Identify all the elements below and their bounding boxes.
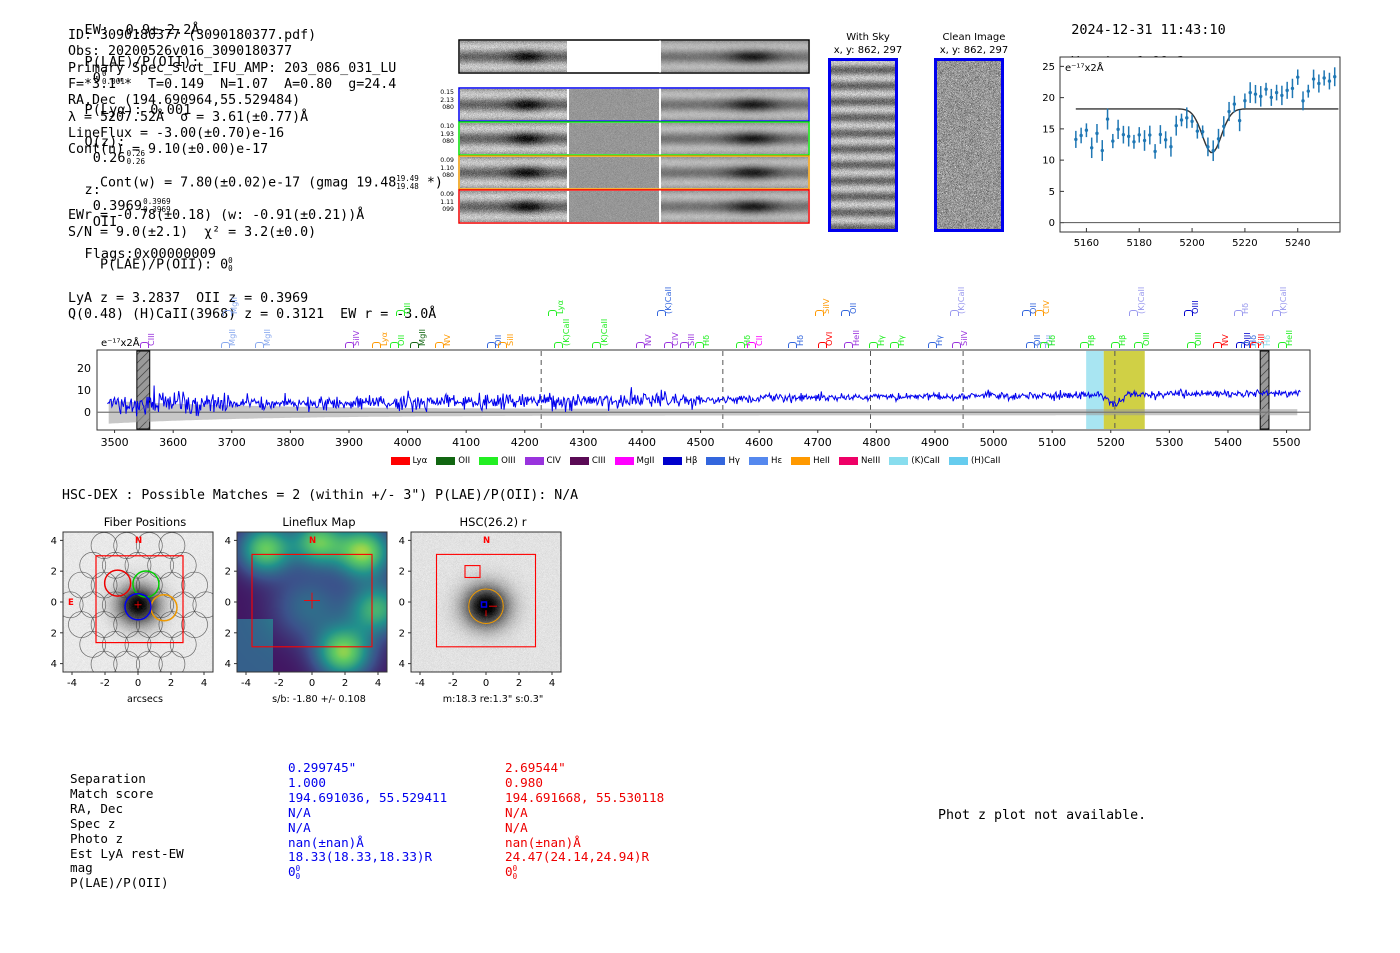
line-marker-49-bracket [1272, 310, 1281, 316]
line-marker-19-bracket [695, 342, 704, 348]
svg-text:-4: -4 [241, 678, 251, 689]
line-marker-30-bracket [950, 310, 959, 316]
line-marker-44-bracket [1234, 310, 1243, 316]
match-row-4-blue-value: N/A [288, 821, 311, 836]
svg-text:3800: 3800 [276, 436, 304, 449]
match-row-2-label: RA, Dec [70, 802, 123, 817]
legend-item-oii: OII [436, 456, 470, 466]
svg-text:2: 2 [399, 628, 405, 639]
spectrum-line-labels: CIIIMgIIMgIIMgIISiIVLyαOIIOIIMgIINVOIISi… [0, 262, 1400, 357]
line-marker-41-bracket [1184, 310, 1193, 316]
svg-text:5240: 5240 [1285, 238, 1310, 249]
line-marker-34-bracket [1035, 310, 1044, 316]
match-row-5-label: Est LyA rest-EW [70, 847, 184, 862]
legend-item-hγ: Hγ [706, 456, 740, 466]
svg-text:4: 4 [225, 536, 231, 547]
match-row-6-blue-text: 18.33(18.33,18.33)R [288, 849, 432, 864]
svg-text:2: 2 [399, 567, 405, 578]
svg-text:2: 2 [225, 567, 231, 578]
match-row-7-blue-value: 000 [288, 865, 300, 880]
svg-text:4400: 4400 [628, 436, 656, 449]
line-marker-3-bracket [255, 342, 264, 348]
cutout-1-title: Clean Image [924, 32, 1024, 43]
legend-swatch-3 [525, 457, 544, 465]
line-marker-28-bracket [890, 342, 899, 348]
svg-text:4: 4 [225, 659, 231, 670]
info-primary-slot: Primary Spec_Slot_IFU_AMP: 203_086_031_L… [68, 61, 443, 77]
line-marker-22-bracket [788, 342, 797, 348]
info-ewr: EWr = -0.78(±0.18) (w: -0.91(±0.21))Å [68, 208, 443, 224]
legend-label-0: Lyα [413, 456, 428, 466]
svg-text:5160: 5160 [1074, 238, 1099, 249]
svg-text:e⁻¹⁷x2Å: e⁻¹⁷x2Å [1065, 61, 1104, 74]
legend-swatch-8 [749, 457, 768, 465]
svg-text:-4: -4 [67, 678, 77, 689]
match-row-7-red-value: 000 [505, 865, 517, 880]
info-radec: RA,Dec (194.690964,55.529484) [68, 93, 443, 109]
svg-text:0: 0 [399, 598, 405, 609]
match-row-5-blue-text: nan(±nan)Å [288, 835, 364, 850]
match-row-7-blue-text: 0 [288, 864, 296, 879]
info-lineflux: LineFlux = -3.00(±0.70)e-16 [68, 126, 443, 142]
legend-item-ciii: CIII [570, 456, 606, 466]
spec2d-image-canvas [458, 34, 813, 260]
svg-text:0: 0 [225, 598, 231, 609]
legend-item-neiii: NeIII [839, 456, 880, 466]
match-row-4-blue-text: N/A [288, 820, 311, 835]
match-row-3-label: Spec z [70, 817, 116, 832]
line-marker-14-bracket [592, 342, 601, 348]
legend-label-9: HeII [813, 456, 830, 466]
line-marker-36-bracket [1040, 342, 1049, 348]
legend-label-10: NeIII [861, 456, 880, 466]
svg-text:15: 15 [1042, 124, 1055, 135]
legend-swatch-4 [570, 457, 589, 465]
match-row-2-red-text: 194.691668, 55.530118 [505, 790, 664, 805]
svg-text:2: 2 [168, 678, 174, 689]
info-id: ID: 3090180377 (3090180377.pdf) [68, 28, 443, 44]
match-row-4-red-text: N/A [505, 820, 528, 835]
line-marker-33-bracket [1026, 342, 1035, 348]
legend-swatch-7 [706, 457, 725, 465]
cutout-0-title: With Sky [818, 32, 918, 43]
spectrum-legend: LyαOIIOIIICIVCIIIMgIIHβHγHεHeIINeIII(K)C… [0, 450, 1400, 469]
match-row-2-blue-value: 194.691036, 55.529411 [288, 791, 447, 806]
svg-text:4: 4 [399, 536, 405, 547]
match-row-3-blue-value: N/A [288, 806, 311, 821]
legend-item-oiii: OIII [479, 456, 515, 466]
line-profile-plot: 051015202551605180520052205240e⁻¹⁷x2Å [1020, 45, 1350, 260]
line-marker-37-bracket [1080, 342, 1089, 348]
svg-text:5100: 5100 [1038, 436, 1066, 449]
svg-text:0: 0 [135, 678, 141, 689]
match-row-0-red-text: 2.69544" [505, 760, 566, 775]
svg-text:20: 20 [1042, 93, 1055, 104]
svg-text:4: 4 [51, 659, 57, 670]
svg-text:4900: 4900 [921, 436, 949, 449]
svg-text:0: 0 [483, 678, 489, 689]
legend-label-11: (K)CaII [911, 456, 940, 466]
svg-text:4: 4 [399, 659, 405, 670]
legend-label-2: OIII [501, 456, 515, 466]
match-row-1-blue-value: 1.000 [288, 776, 326, 791]
line-marker-29-bracket [928, 342, 937, 348]
hscdex-panel-axes: -4-202442024-4-202442024-4-202442024 [30, 520, 650, 720]
line-marker-2-bracket [223, 310, 232, 316]
line-marker-31-bracket [952, 342, 961, 348]
line-marker-12-bracket [548, 310, 557, 316]
line-marker-26-bracket [844, 342, 853, 348]
line-marker-50-bracket [1278, 342, 1287, 348]
line-marker-42-bracket [1187, 342, 1196, 348]
info-params: F=*3.1"* T=0.149 N=1.07 A=0.80 g=24.4 [68, 77, 443, 93]
svg-text:3600: 3600 [159, 436, 187, 449]
cutout-0-subtitle: x, y: 862, 297 [818, 45, 918, 56]
svg-text:0: 0 [1049, 218, 1055, 229]
line-marker-23-bracket [815, 310, 824, 316]
legend-item-civ: CIV [525, 456, 561, 466]
match-row-0-blue-text: 0.299745" [288, 760, 356, 775]
line-marker-39: (K)CaII [1136, 287, 1146, 314]
svg-text:-2: -2 [448, 678, 458, 689]
svg-text:3500: 3500 [101, 436, 129, 449]
match-row-3-red-value: N/A [505, 806, 528, 821]
line-marker-32-bracket [1022, 310, 1031, 316]
svg-text:0: 0 [84, 406, 91, 419]
match-row-3-blue-text: N/A [288, 805, 311, 820]
legend-swatch-10 [839, 457, 858, 465]
svg-text:-4: -4 [415, 678, 425, 689]
legend-label-4: CIII [592, 456, 606, 466]
match-row-6-label: mag [70, 861, 93, 876]
match-row-5-red-value: nan(±nan)Å [505, 836, 581, 851]
line-marker-16-bracket [657, 310, 666, 316]
line-marker-20-bracket [736, 342, 745, 348]
line-marker-24-bracket [818, 342, 827, 348]
match-row-7-label: P(LAE)/P(OII) [70, 876, 169, 891]
line-marker-4-bracket [345, 342, 354, 348]
match-row-7-blue-fraction: 00 [296, 865, 301, 880]
legend-label-6: Hβ [685, 456, 697, 466]
legend-label-3: CIV [547, 456, 561, 466]
line-marker-10-bracket [487, 342, 496, 348]
svg-text:5180: 5180 [1127, 238, 1152, 249]
line-marker-15-bracket [636, 342, 645, 348]
svg-text:-2: -2 [100, 678, 110, 689]
svg-text:25: 25 [1042, 62, 1055, 73]
line-marker-40-bracket [1134, 342, 1143, 348]
svg-text:4700: 4700 [804, 436, 832, 449]
line-marker-43-bracket [1213, 342, 1222, 348]
line-marker-6-bracket [390, 342, 399, 348]
legend-swatch-5 [615, 457, 634, 465]
svg-text:20: 20 [77, 362, 91, 375]
legend-swatch-6 [663, 457, 682, 465]
match-row-7-red-text: 0 [505, 864, 513, 879]
match-row-4-label: Photo z [70, 832, 123, 847]
legend-label-5: MgII [637, 456, 655, 466]
svg-text:4: 4 [51, 536, 57, 547]
legend-swatch-11 [889, 457, 908, 465]
clean-image-canvas [934, 58, 1004, 232]
info-cont-w-text: Cont(w) = 7.80(±0.02)e-17 (gmag 19.48 [100, 176, 396, 191]
cutout-1-subtitle: x, y: 862, 297 [924, 45, 1024, 56]
legend-label-8: Hε [771, 456, 782, 466]
info-obs: Obs: 20200526v016_3090180377 [68, 44, 443, 60]
match-row-0-blue-value: 0.299745" [288, 761, 356, 776]
legend-swatch-2 [479, 457, 498, 465]
legend-item-heii: HeII [791, 456, 830, 466]
match-row-5-blue-value: nan(±nan)Å [288, 836, 364, 851]
svg-text:2: 2 [51, 567, 57, 578]
line-marker-7-bracket [396, 310, 405, 316]
legend-label-7: Hγ [728, 456, 740, 466]
match-row-4-red-value: N/A [505, 821, 528, 836]
line-marker-27-bracket [869, 342, 878, 348]
svg-text:5500: 5500 [1273, 436, 1301, 449]
svg-text:0: 0 [51, 598, 57, 609]
legend-swatch-1 [436, 457, 455, 465]
legend-swatch-0 [391, 457, 410, 465]
line-marker-25-bracket [841, 310, 850, 316]
legend-swatch-9 [791, 457, 810, 465]
svg-text:3900: 3900 [335, 436, 363, 449]
match-row-6-red-value: 24.47(24.14,24.94)R [505, 850, 649, 865]
match-row-6-blue-value: 18.33(18.33,18.33)R [288, 850, 432, 865]
line-marker-1-bracket [221, 342, 230, 348]
svg-text:0: 0 [309, 678, 315, 689]
match-row-1-red-text: 0.980 [505, 775, 543, 790]
svg-text:2: 2 [51, 628, 57, 639]
svg-text:4800: 4800 [862, 436, 890, 449]
match-row-5-red-text: nan(±nan)Å [505, 835, 581, 850]
info-lambda-sigma: λ = 5207.52Å σ = 3.61(±0.77)Å [68, 110, 443, 126]
info-cont-n: Cont(n) = 9.10(±0.00)e-17 [68, 142, 443, 158]
match-row-6-red-text: 24.47(24.14,24.94)R [505, 849, 649, 864]
line-marker-21-bracket [747, 342, 756, 348]
match-row-0-red-value: 2.69544" [505, 761, 566, 776]
line-marker-38-bracket [1111, 342, 1120, 348]
info-snr-chi2: S/N = 9.0(±2.1) χ² = 3.2(±0.0) [68, 225, 443, 241]
match-row-3-red-text: N/A [505, 805, 528, 820]
hscdex-title: HSC-DEX : Possible Matches = 2 (within +… [62, 488, 578, 503]
svg-text:2: 2 [225, 628, 231, 639]
info-cont-w-sub: 19.48 [396, 183, 419, 191]
svg-text:5000: 5000 [980, 436, 1008, 449]
match-row-7-red-fraction: 00 [513, 865, 518, 880]
svg-text:10: 10 [77, 384, 91, 397]
svg-text:5400: 5400 [1214, 436, 1242, 449]
photz-note: Phot z plot not available. [938, 808, 1146, 823]
svg-text:2: 2 [342, 678, 348, 689]
svg-text:4: 4 [549, 678, 555, 689]
legend-label-12: (H)CaII [971, 456, 1001, 466]
svg-text:4500: 4500 [687, 436, 715, 449]
svg-text:4000: 4000 [394, 436, 422, 449]
svg-text:4: 4 [375, 678, 381, 689]
match-row-1-red-value: 0.980 [505, 776, 543, 791]
svg-text:5220: 5220 [1232, 238, 1257, 249]
match-row-1-blue-text: 1.000 [288, 775, 326, 790]
svg-text:3700: 3700 [218, 436, 246, 449]
line-marker-17-bracket [664, 342, 673, 348]
match-row-0-label: Separation [70, 772, 146, 787]
svg-text:4300: 4300 [569, 436, 597, 449]
line-marker-13-bracket [554, 342, 563, 348]
svg-text:2: 2 [516, 678, 522, 689]
svg-text:5300: 5300 [1155, 436, 1183, 449]
line-marker-39-bracket [1129, 310, 1138, 316]
match-row-2-red-value: 194.691668, 55.530118 [505, 791, 664, 806]
svg-text:10: 10 [1042, 156, 1055, 167]
match-row-1-label: Match score [70, 787, 153, 802]
line-marker-5-bracket [372, 342, 381, 348]
line-marker-9-bracket [435, 342, 444, 348]
match-row-2-blue-text: 194.691036, 55.529411 [288, 790, 447, 805]
info-cont-w-post: *) [427, 176, 443, 191]
svg-text:5200: 5200 [1097, 436, 1125, 449]
legend-item-lyα: Lyα [391, 456, 428, 466]
svg-text:4: 4 [201, 678, 207, 689]
legend-item-mgii: MgII [615, 456, 655, 466]
with-sky-image-canvas [828, 58, 898, 232]
legend-item-hβ: Hβ [663, 456, 697, 466]
line-marker-11-bracket [498, 342, 507, 348]
line-marker-0-bracket [140, 342, 149, 348]
line-marker-48-bracket [1255, 342, 1264, 348]
svg-text:5200: 5200 [1179, 238, 1204, 249]
legend-item-hε: Hε [749, 456, 782, 466]
svg-text:4200: 4200 [511, 436, 539, 449]
legend-label-1: OII [458, 456, 470, 466]
header-timestamp: 2024-12-31 11:43:10 [1071, 22, 1225, 38]
legend-item-hcaii: (H)CaII [949, 456, 1001, 466]
line-marker-18-bracket [680, 342, 689, 348]
info-cont-w: Cont(w) = 7.80(±0.02)e-17 (gmag 19.4819.… [68, 159, 443, 209]
svg-text:4600: 4600 [745, 436, 773, 449]
line-marker-8-bracket [410, 342, 419, 348]
svg-text:-2: -2 [274, 678, 284, 689]
legend-swatch-12 [949, 457, 968, 465]
svg-text:5: 5 [1049, 187, 1055, 198]
legend-item-kcaii: (K)CaII [889, 456, 940, 466]
svg-text:4100: 4100 [452, 436, 480, 449]
